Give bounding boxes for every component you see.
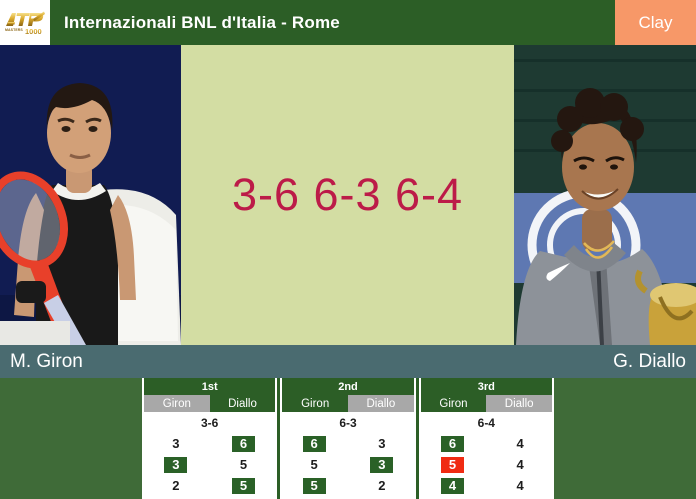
- column-header-giron: Giron: [282, 395, 348, 412]
- game-value: 3: [370, 436, 393, 452]
- game-rows: 635352: [280, 432, 415, 499]
- surface-badge: Clay: [615, 0, 696, 45]
- set-player-headers: GironDiallo: [142, 395, 277, 412]
- column-header-diallo: Diallo: [210, 395, 276, 412]
- table-row: 25: [142, 475, 277, 496]
- game-cell-giron: 4: [419, 478, 487, 494]
- game-cell-diallo: 4: [486, 436, 554, 452]
- game-value: 6: [303, 436, 326, 452]
- player-left-photo: [0, 45, 181, 345]
- game-value: 4: [509, 457, 532, 473]
- atp-logo-container: MASTERS 1000: [0, 0, 50, 45]
- player-right-name: G. Diallo: [613, 351, 686, 373]
- column-header-diallo: Diallo: [486, 395, 552, 412]
- table-row: 52: [280, 475, 415, 496]
- table-row: 44: [419, 475, 554, 496]
- table-row: 35: [142, 454, 277, 475]
- game-cell-giron: 3: [142, 457, 210, 473]
- table-row: 64: [419, 433, 554, 454]
- table-row: 36: [142, 433, 277, 454]
- match-score-screen: MASTERS 1000 Internazionali BNL d'Italia…: [0, 0, 696, 499]
- set-final-score: 3-6: [142, 414, 277, 432]
- header-bar: MASTERS 1000 Internazionali BNL d'Italia…: [0, 0, 696, 45]
- game-value: 4: [441, 478, 464, 494]
- atp-masters-1000-logo: MASTERS 1000: [3, 9, 47, 37]
- column-header-giron: Giron: [144, 395, 210, 412]
- set-block-2nd: 2ndGironDiallo6-3635352: [280, 378, 418, 499]
- game-cell-diallo: 5: [210, 478, 278, 494]
- game-cell-giron: 6: [419, 436, 487, 452]
- match-score-line: 3-6 6-3 6-4: [232, 169, 463, 221]
- player-right-photo: [514, 45, 696, 345]
- table-row: 63: [280, 433, 415, 454]
- game-cell-giron: 5: [280, 457, 348, 473]
- game-value: 3: [370, 457, 393, 473]
- game-value: 6: [441, 436, 464, 452]
- column-header-giron: Giron: [421, 395, 487, 412]
- game-cell-giron: 3: [142, 436, 210, 452]
- game-value: 6: [232, 436, 255, 452]
- game-rows: 645444: [419, 432, 554, 499]
- set-breakdown-table: 1stGironDiallo3-63635252ndGironDiallo6-3…: [142, 378, 554, 499]
- game-cell-diallo: 3: [348, 457, 416, 473]
- game-cell-diallo: 2: [348, 478, 416, 494]
- set-label: 3rd: [419, 378, 554, 395]
- table-row: 53: [280, 454, 415, 475]
- game-cell-diallo: 5: [210, 457, 278, 473]
- tournament-title: Internazionali BNL d'Italia - Rome: [64, 13, 615, 33]
- set-player-headers: GironDiallo: [419, 395, 554, 412]
- set-block-1st: 1stGironDiallo3-6363525: [142, 378, 280, 499]
- player-names-bar: M. Giron G. Diallo: [0, 345, 696, 378]
- set-block-3rd: 3rdGironDiallo6-4645444: [419, 378, 554, 499]
- game-cell-diallo: 3: [348, 436, 416, 452]
- game-value: 5: [232, 457, 255, 473]
- column-header-diallo: Diallo: [348, 395, 414, 412]
- set-player-headers: GironDiallo: [280, 395, 415, 412]
- game-value: 3: [164, 436, 187, 452]
- svg-text:1000: 1000: [25, 27, 42, 36]
- game-cell-giron: 2: [142, 478, 210, 494]
- set-final-score: 6-4: [419, 414, 554, 432]
- game-cell-giron: 6: [280, 436, 348, 452]
- players-photo-strip: 3-6 6-3 6-4: [0, 45, 696, 345]
- game-cell-diallo: 4: [486, 457, 554, 473]
- game-cell-diallo: 6: [210, 436, 278, 452]
- game-value: 5: [441, 457, 464, 473]
- game-value: 5: [232, 478, 255, 494]
- game-value: 2: [164, 478, 187, 494]
- game-value: 4: [509, 436, 532, 452]
- game-cell-giron: 5: [280, 478, 348, 494]
- set-label: 1st: [142, 378, 277, 395]
- svg-text:MASTERS: MASTERS: [5, 28, 23, 32]
- game-value: 3: [164, 457, 187, 473]
- game-value: 5: [303, 457, 326, 473]
- game-value: 4: [509, 478, 532, 494]
- score-panel: 3-6 6-3 6-4: [181, 45, 514, 345]
- game-rows: 363525: [142, 432, 277, 499]
- player-left-name: M. Giron: [10, 351, 83, 373]
- set-label: 2nd: [280, 378, 415, 395]
- game-value: 5: [303, 478, 326, 494]
- table-row: 54: [419, 454, 554, 475]
- game-cell-giron: 5: [419, 457, 487, 473]
- game-value: 2: [370, 478, 393, 494]
- game-cell-diallo: 4: [486, 478, 554, 494]
- set-final-score: 6-3: [280, 414, 415, 432]
